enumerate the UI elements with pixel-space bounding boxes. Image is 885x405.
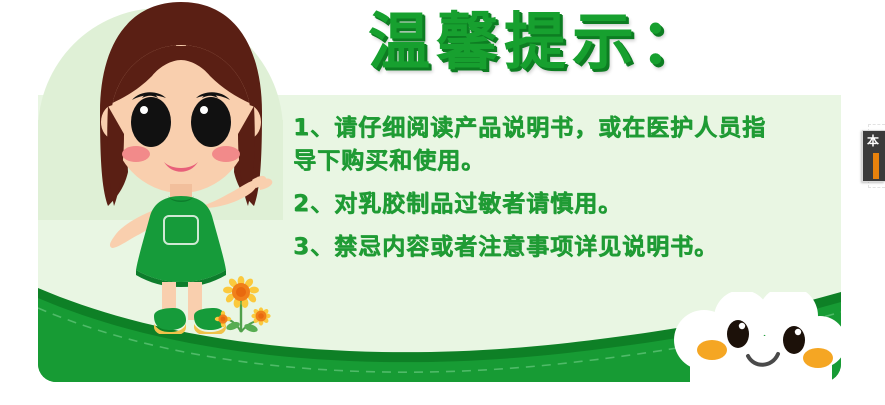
cloud-blush-right — [803, 348, 833, 368]
cloud-body — [674, 292, 841, 382]
sunflowers-illustration — [211, 276, 281, 338]
girl-blush-left — [122, 146, 150, 162]
flower-small-right — [251, 307, 270, 325]
cloud-eye-right — [783, 326, 805, 354]
cloud-eye-highlight-right — [795, 329, 801, 335]
tip-item-3: 3、禁忌内容或者注意事项详见说明书。 — [293, 231, 823, 264]
tip-item-2: 2、对乳胶制品过敏者请慎用。 — [293, 188, 823, 221]
tip-item-1: 1、请仔细阅读产品说明书，或在医护人员指导下购买和使用。 — [293, 112, 771, 178]
girl-eye-highlight-left — [140, 106, 148, 114]
tips-card: 温馨提示： 1、请仔细阅读产品说明书，或在医护人员指导下购买和使用。 2、对乳胶… — [38, 0, 841, 382]
side-widget[interactable]: 本 — [862, 130, 885, 182]
girl-blush-right — [212, 146, 240, 162]
cloud-eye-highlight-left — [739, 323, 745, 329]
page-title: 温馨提示： — [368, 6, 708, 78]
cloud-eye-left — [727, 320, 749, 348]
girl-eye-highlight-right — [200, 106, 208, 114]
cloud-blush-left — [697, 340, 727, 360]
page-root: 温馨提示： 1、请仔细阅读产品说明书，或在医护人员指导下购买和使用。 2、对乳胶… — [0, 0, 885, 405]
side-widget-accent-bar — [873, 153, 879, 179]
girl-shoe-left — [154, 308, 186, 330]
girl-dress-pocket — [164, 216, 198, 244]
girl-eye-left — [131, 97, 171, 147]
smiling-cloud-illustration — [670, 292, 841, 382]
side-widget-label: 本 — [867, 134, 879, 148]
girl-eye-right — [191, 97, 231, 147]
tips-list: 1、请仔细阅读产品说明书，或在医护人员指导下购买和使用。 2、对乳胶制品过敏者请… — [293, 112, 823, 274]
